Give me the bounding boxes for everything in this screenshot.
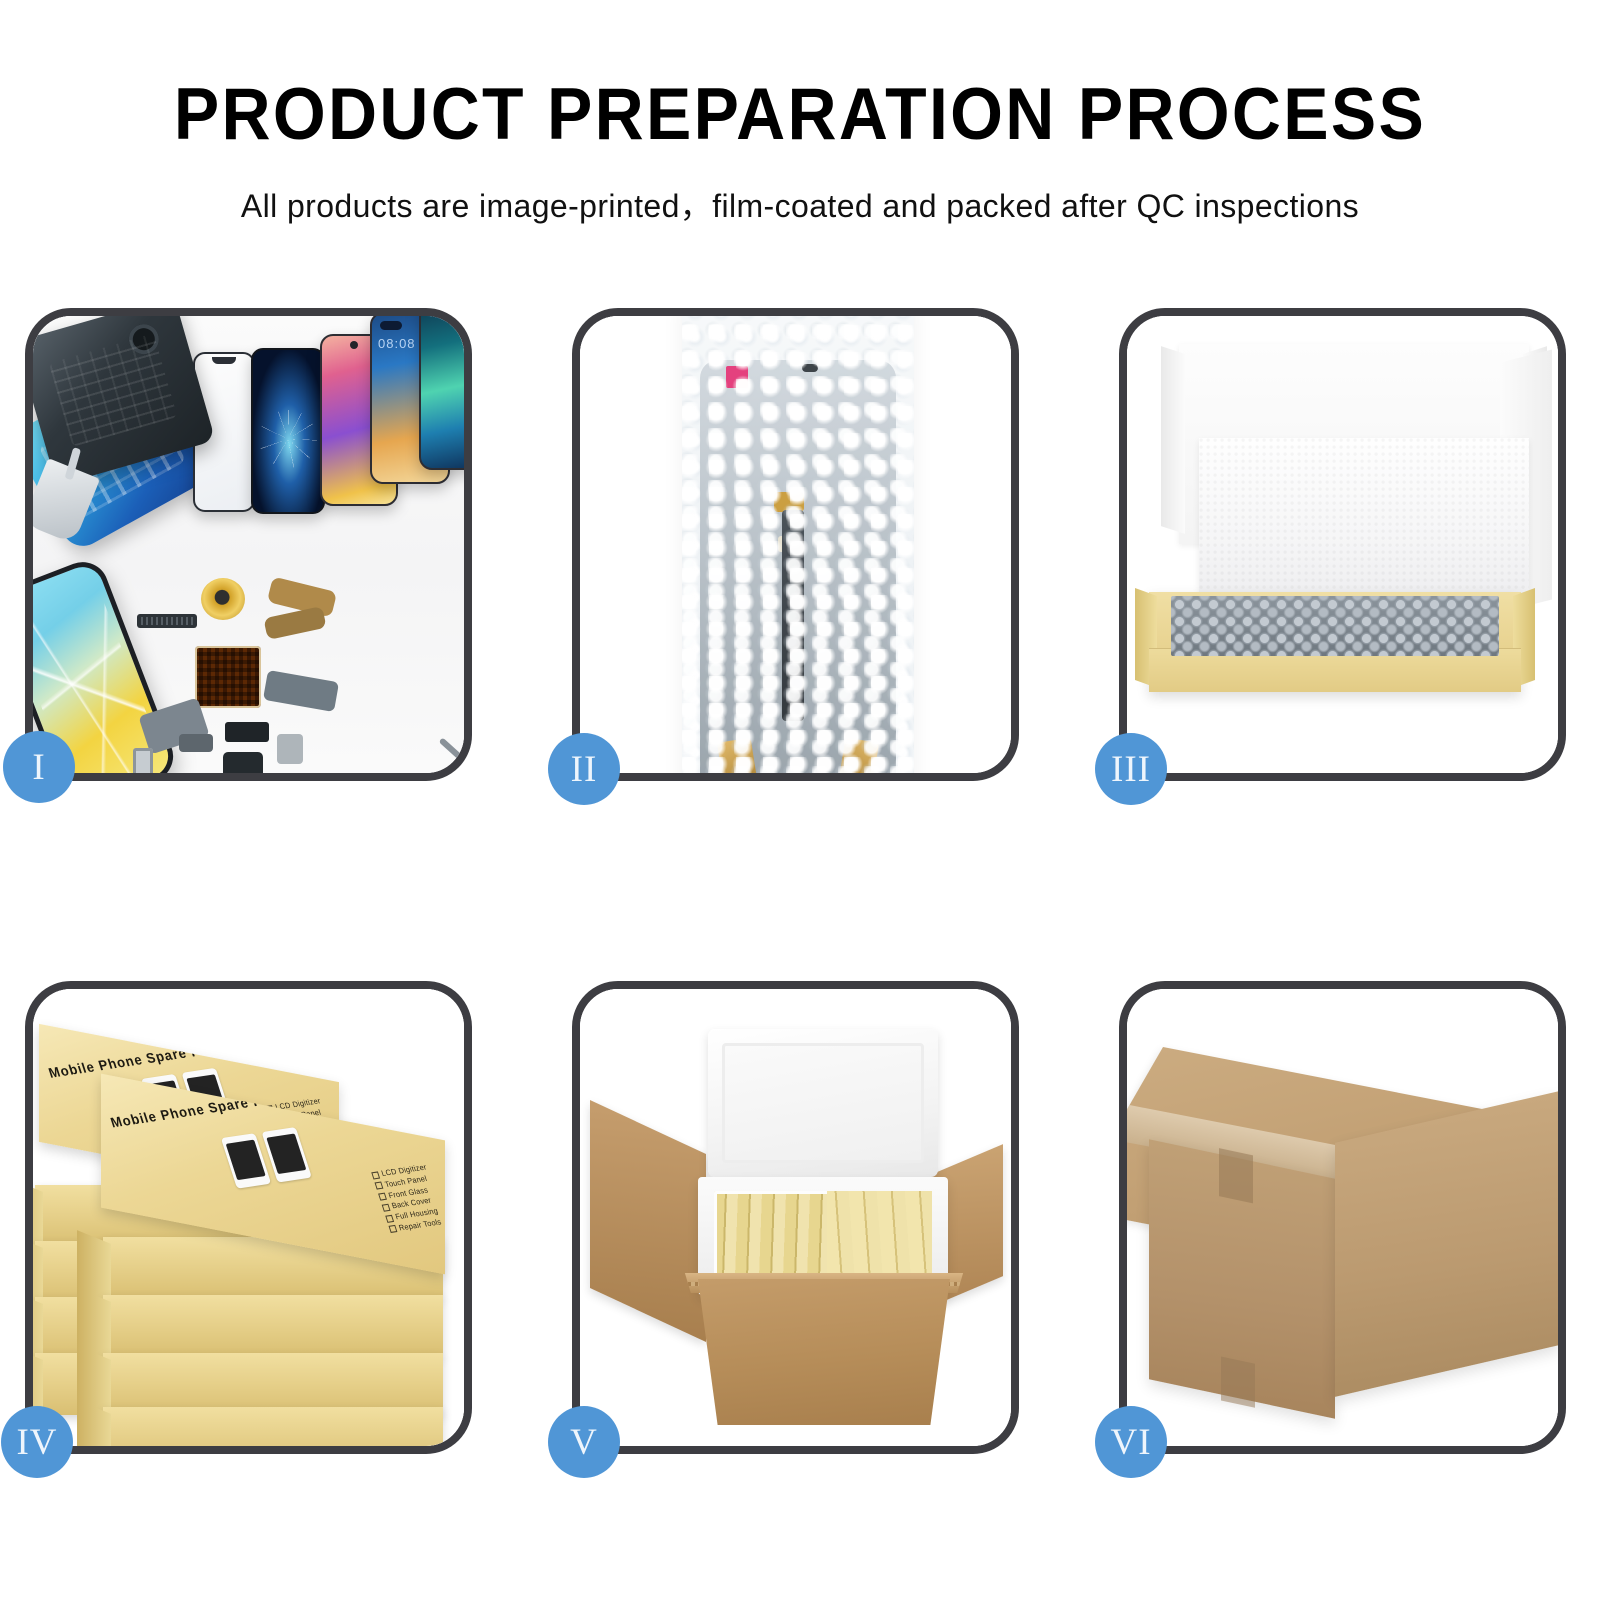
process-step-3[interactable]: III	[1119, 308, 1566, 781]
vibration-motor-part	[277, 734, 303, 764]
step-1-photo: 08:08	[33, 316, 464, 773]
step-3-photo	[1127, 316, 1558, 773]
foam-box-lid	[708, 1029, 938, 1177]
carton-left-face	[1149, 1139, 1335, 1419]
carton-right-face	[1335, 1091, 1558, 1397]
gold-boxes-inside-foam	[714, 1191, 932, 1283]
process-step-1[interactable]: 08:08 I	[25, 308, 472, 781]
retail-box-stack: Mobile Phone Spare Parts LCD Digitizer T…	[33, 989, 464, 1446]
gold-contact-right	[839, 738, 879, 773]
step-badge-3: III	[1095, 733, 1167, 805]
white-foam-insert	[1199, 438, 1529, 600]
step-6-photo	[1127, 989, 1558, 1446]
grey-bubble-wrap-padding	[1171, 596, 1499, 656]
speaker-module-part	[223, 752, 263, 773]
process-step-6[interactable]: VI	[1119, 981, 1566, 1454]
process-step-2[interactable]: II	[572, 308, 1019, 781]
phone-display-teal	[419, 316, 464, 470]
carton-seam-bottom	[1221, 1357, 1255, 1408]
step-5-photo	[580, 989, 1011, 1446]
process-step-grid: 08:08 I	[25, 308, 1570, 1438]
step-4-photo: Mobile Phone Spare Parts LCD Digitizer T…	[33, 989, 464, 1446]
grey-connector	[782, 571, 800, 587]
stacked-box-f3	[103, 1353, 443, 1415]
box-checklist-2: LCD Digitizer Touch Panel Front Glass Ba…	[370, 1162, 445, 1235]
ic-chip-grid	[195, 646, 261, 708]
step-badge-6: VI	[1095, 1406, 1167, 1478]
screen-crack-pattern	[259, 410, 317, 468]
status-clock-text: 08:08	[378, 336, 416, 351]
page-title: PRODUCT PREPARATION PROCESS	[56, 78, 1544, 151]
step-badge-4: IV	[1, 1406, 73, 1478]
gold-connector	[774, 492, 804, 512]
process-step-4[interactable]: Mobile Phone Spare Parts LCD Digitizer T…	[25, 981, 472, 1454]
white-connector	[778, 536, 802, 552]
camera-cutout	[802, 364, 818, 372]
wireless-charging-coil	[201, 578, 245, 620]
button-part	[179, 734, 213, 752]
thumbnail-screen	[262, 1127, 312, 1183]
connector-strip-part	[137, 614, 197, 628]
process-step-5[interactable]: V	[572, 981, 1019, 1454]
sim-tray-part	[133, 748, 153, 773]
page-header: PRODUCT PREPARATION PROCESS All products…	[0, 0, 1600, 227]
step-2-photo	[580, 316, 1011, 773]
carton-seam-top	[1219, 1148, 1253, 1203]
step-badge-2: II	[548, 733, 620, 805]
qc-pink-sticker	[726, 366, 748, 388]
wrapped-lcd-assembly	[700, 360, 896, 773]
box-side	[77, 1400, 111, 1446]
front-camera-notch	[380, 321, 402, 330]
stacked-box-f2	[103, 1295, 443, 1357]
page-subtitle: All products are image-printed，film-coat…	[0, 181, 1600, 227]
rear-camera-module	[125, 321, 162, 358]
box-product-thumbnails-2	[221, 1127, 312, 1189]
gold-contact-left	[717, 738, 757, 773]
carton-front-face	[684, 1279, 964, 1425]
cracked-lcd-screen	[251, 348, 325, 514]
stacked-box-f4	[103, 1407, 443, 1446]
battery-connector-part	[225, 722, 269, 742]
step-badge-5: V	[548, 1406, 620, 1478]
step-badge-1: I	[3, 731, 75, 803]
bubble-wrap-sleeve	[682, 316, 914, 773]
flex-ribbon-cable	[782, 510, 804, 721]
